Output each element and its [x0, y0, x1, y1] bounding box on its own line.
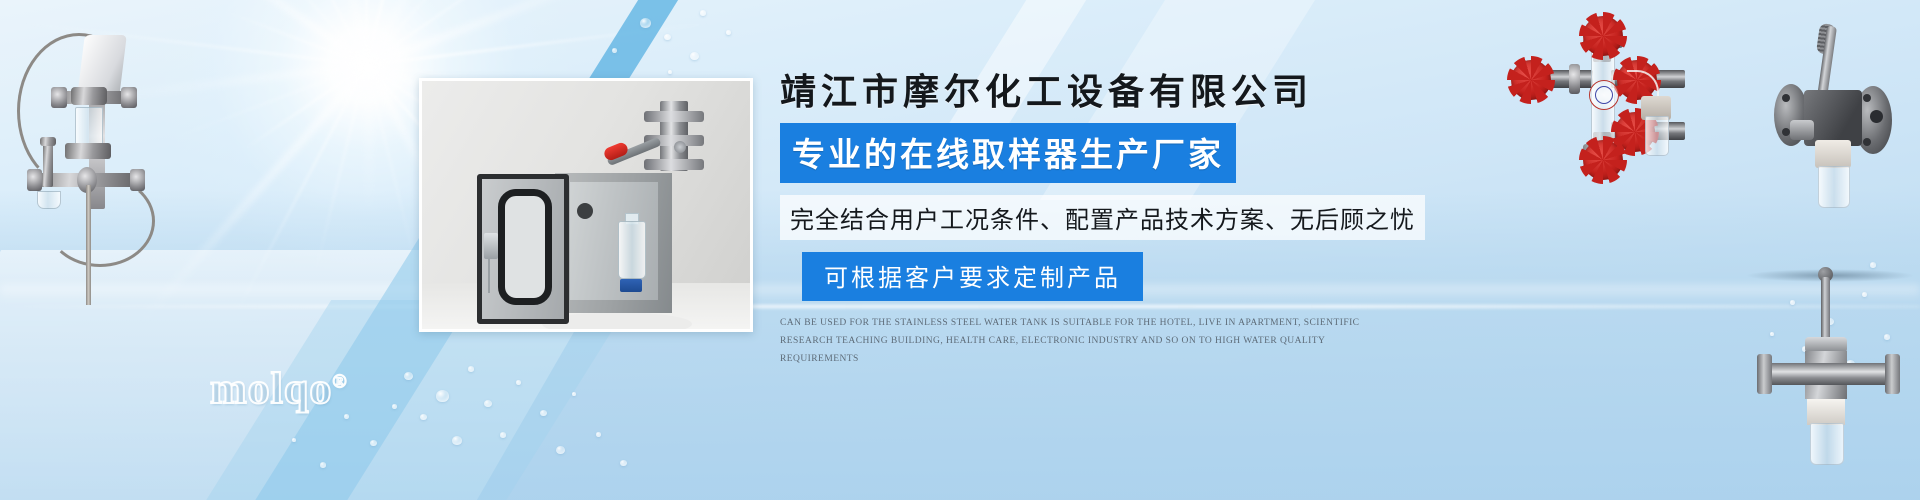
water-droplet — [556, 446, 565, 454]
custom-product-pill: 可根据客户要求定制产品 — [802, 252, 1143, 301]
valve-handwheel-icon — [1583, 140, 1623, 180]
water-droplet — [452, 436, 462, 445]
sampling-cabinet-photo — [419, 78, 753, 332]
brand-watermark: molqo® — [210, 363, 348, 414]
brand-seal-icon — [1589, 80, 1619, 110]
water-droplet — [344, 414, 349, 419]
water-droplet — [612, 48, 617, 53]
water-droplet — [596, 432, 601, 437]
valve-handwheel-icon — [1511, 60, 1551, 100]
cross-valve-cluster-figure — [1505, 32, 1695, 162]
water-droplet — [668, 70, 672, 74]
valve-handwheel-icon — [1583, 16, 1623, 56]
water-droplet — [320, 462, 326, 468]
water-droplet — [664, 34, 671, 40]
water-droplet — [468, 366, 474, 372]
banner-text-block: 靖江市摩尔化工设备有限公司 专业的在线取样器生产厂家 完全结合用户工况条件、配置… — [780, 72, 1400, 368]
watermark-text: molqo — [210, 364, 332, 413]
water-droplet — [436, 390, 449, 402]
water-droplet — [700, 10, 706, 16]
lever-sampling-valve-figure — [1760, 28, 1900, 218]
registered-mark-icon: ® — [332, 371, 347, 392]
water-droplet — [726, 30, 731, 35]
promo-banner: 靖江市摩尔化工设备有限公司 专业的在线取样器生产厂家 完全结合用户工况条件、配置… — [0, 0, 1920, 500]
water-droplet — [292, 438, 296, 442]
water-droplet — [640, 18, 651, 28]
stem-sampling-valve-figure — [1755, 265, 1905, 465]
water-droplet — [572, 392, 576, 396]
company-name: 靖江市摩尔化工设备有限公司 — [780, 72, 1400, 113]
water-droplet — [392, 404, 397, 409]
english-caption: CAN BE USED FOR THE STAINLESS STEEL WATE… — [780, 315, 1380, 368]
water-droplet — [516, 380, 521, 385]
water-droplet — [404, 372, 413, 380]
water-droplet — [500, 432, 506, 438]
online-sampler-assembly-figure — [15, 25, 175, 305]
headline-badge: 专业的在线取样器生产厂家 — [780, 123, 1236, 183]
subtitle-text: 完全结合用户工况条件、配置产品技术方案、无后顾之忧 — [780, 195, 1425, 240]
water-droplet — [690, 52, 699, 60]
